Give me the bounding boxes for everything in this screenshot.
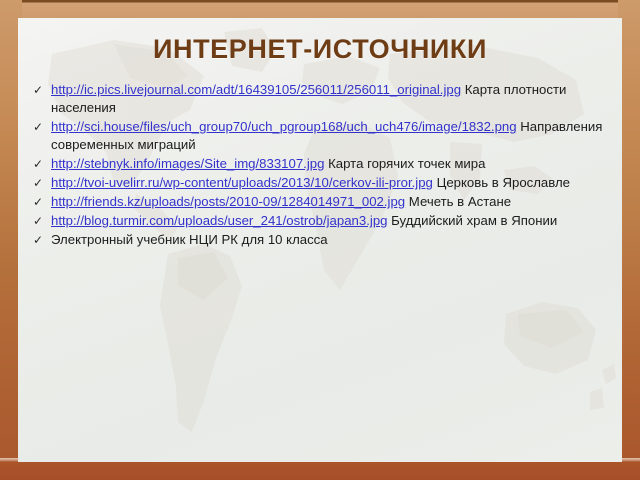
list-item: ✓ http://friends.kz/uploads/posts/2010-0… bbox=[31, 193, 617, 211]
source-link[interactable]: http://ic.pics.livejournal.com/adt/16439… bbox=[51, 82, 461, 97]
checkmark-icon: ✓ bbox=[31, 212, 51, 230]
page-title: ИНТЕРНЕТ-ИСТОЧНИКИ bbox=[18, 34, 622, 65]
list-item: ✓ http://ic.pics.livejournal.com/adt/164… bbox=[31, 81, 617, 117]
source-caption: Мечеть в Астане bbox=[405, 194, 511, 209]
list-item-body: http://sci.house/files/uch_group70/uch_p… bbox=[51, 118, 617, 154]
list-item: ✓ http://stebnyk.info/images/Site_img/83… bbox=[31, 155, 617, 173]
list-item-body: http://blog.turmir.com/uploads/user_241/… bbox=[51, 212, 617, 230]
checkmark-icon: ✓ bbox=[31, 231, 51, 249]
source-link[interactable]: http://blog.turmir.com/uploads/user_241/… bbox=[51, 213, 388, 228]
list-item-body: http://friends.kz/uploads/posts/2010-09/… bbox=[51, 193, 617, 211]
checkmark-icon: ✓ bbox=[31, 174, 51, 192]
checkmark-icon: ✓ bbox=[31, 193, 51, 211]
source-link[interactable]: http://friends.kz/uploads/posts/2010-09/… bbox=[51, 194, 405, 209]
source-caption: Карта горячих точек мира bbox=[324, 156, 485, 171]
list-item: ✓ http://tvoi-uvelirr.ru/wp-content/uplo… bbox=[31, 174, 617, 192]
list-item-body: Электронный учебник НЦИ РК для 10 класса bbox=[51, 231, 617, 249]
source-link[interactable]: http://stebnyk.info/images/Site_img/8331… bbox=[51, 156, 324, 171]
source-link[interactable]: http://sci.house/files/uch_group70/uch_p… bbox=[51, 119, 517, 134]
checkmark-icon: ✓ bbox=[31, 155, 51, 173]
list-item: ✓ http://blog.turmir.com/uploads/user_24… bbox=[31, 212, 617, 230]
source-link[interactable]: http://tvoi-uvelirr.ru/wp-content/upload… bbox=[51, 175, 433, 190]
checkmark-icon: ✓ bbox=[31, 118, 51, 136]
presentation-slide: ИНТЕРНЕТ-ИСТОЧНИКИ ✓ http://ic.pics.live… bbox=[0, 0, 640, 480]
list-item: ✓ Электронный учебник НЦИ РК для 10 клас… bbox=[31, 231, 617, 249]
checkmark-icon: ✓ bbox=[31, 81, 51, 99]
list-item-body: http://tvoi-uvelirr.ru/wp-content/upload… bbox=[51, 174, 617, 192]
list-item: ✓ http://sci.house/files/uch_group70/uch… bbox=[31, 118, 617, 154]
source-caption: Церковь в Ярославле bbox=[433, 175, 570, 190]
list-item-body: http://ic.pics.livejournal.com/adt/16439… bbox=[51, 81, 617, 117]
slide-canvas: ИНТЕРНЕТ-ИСТОЧНИКИ ✓ http://ic.pics.live… bbox=[18, 18, 622, 462]
source-caption: Буддийский храм в Японии bbox=[388, 213, 558, 228]
internet-sources-list: ✓ http://ic.pics.livejournal.com/adt/164… bbox=[31, 81, 617, 250]
source-caption: Электронный учебник НЦИ РК для 10 класса bbox=[51, 232, 328, 247]
list-item-body: http://stebnyk.info/images/Site_img/8331… bbox=[51, 155, 617, 173]
